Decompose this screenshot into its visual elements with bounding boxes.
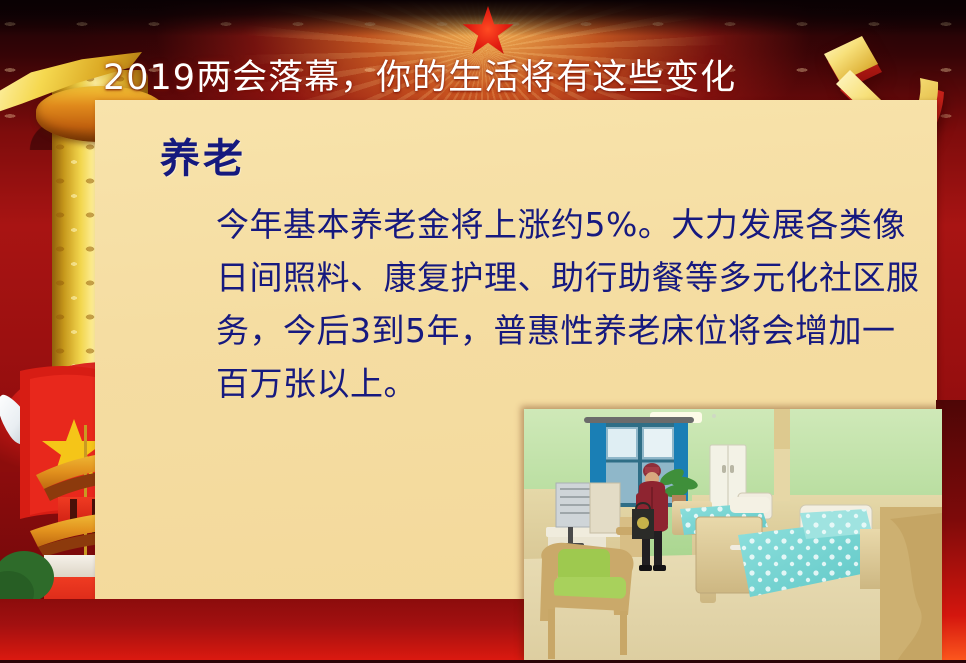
section-heading: 养老 (160, 126, 246, 184)
nursing-home-photo (524, 409, 942, 663)
body-paragraph: 今年基本养老金将上涨约5%。大力发展各类像日间照料、康复护理、助行助餐等多元化社… (150, 198, 920, 410)
presentation-slide: 2019两会落幕，你的生活将有这些变化 养老 今年基本养老金将上涨约5%。大力发… (0, 0, 966, 663)
page-title: 2019两会落幕，你的生活将有这些变化 (95, 49, 736, 100)
body-text: 今年基本养老金将上涨约5%。大力发展各类像日间照料、康复护理、助行助餐等多元化社… (150, 198, 920, 410)
title-banner: 2019两会落幕，你的生活将有这些变化 (95, 47, 937, 101)
